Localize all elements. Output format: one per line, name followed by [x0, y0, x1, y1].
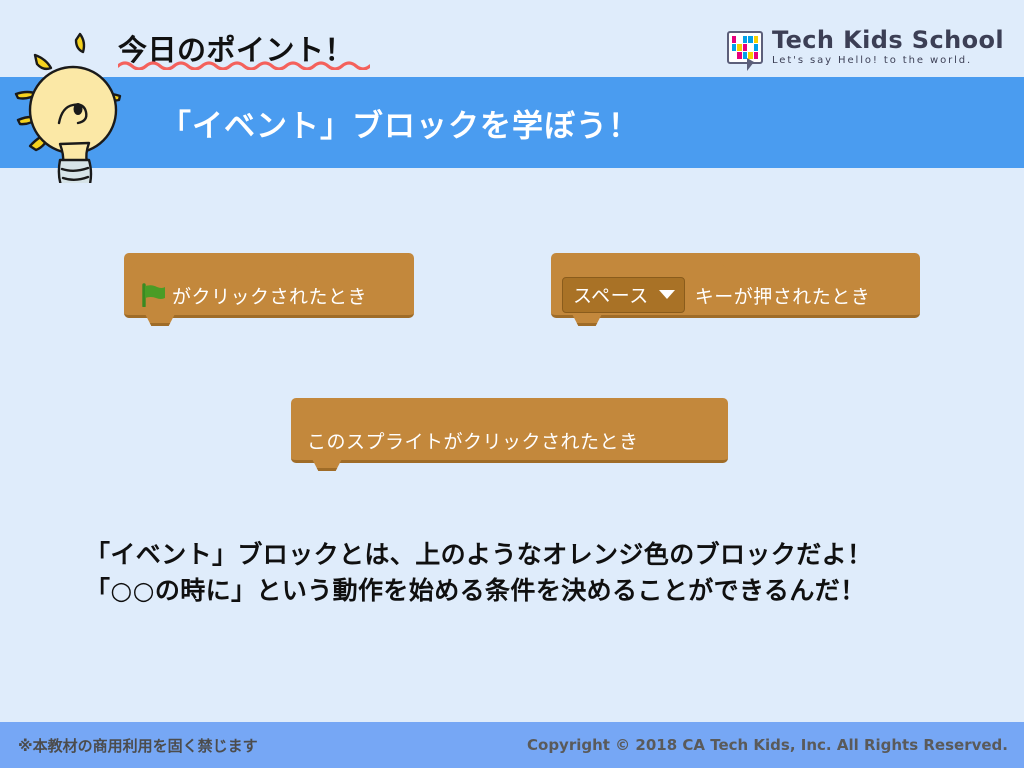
- explanation-text: 「イベント」ブロックとは、上のようなオレンジ色のブロックだよ！ 「○○の時に」と…: [85, 537, 872, 608]
- footer-copyright: Copyright © 2018 CA Tech Kids, Inc. All …: [527, 736, 1008, 754]
- logo-text-group: Tech Kids School Let's say Hello! to the…: [772, 28, 1004, 66]
- footer-notice: ※本教材の商用利用を固く禁じます: [18, 735, 258, 756]
- speech-bubble-tail-icon: [747, 58, 754, 71]
- block-bottom-notch: [142, 315, 178, 326]
- green-flag-icon: [140, 283, 166, 307]
- block-body: がクリックされたとき: [124, 275, 414, 318]
- block-bottom-notch: [569, 315, 605, 326]
- block-body: スペース キーが押されたとき: [551, 275, 920, 318]
- block-body: このスプライトがクリックされたとき: [291, 420, 728, 463]
- logo-tagline: Let's say Hello! to the world.: [772, 56, 1004, 66]
- explanation-line-2: 「○○の時に」という動作を始める条件を決めることができるんだ！: [85, 573, 872, 609]
- title-wavy-underline: [118, 60, 370, 70]
- scratch-block-when-key-pressed[interactable]: スペース キーが押されたとき: [551, 253, 920, 318]
- banner: 「イベント」ブロックを学ぼう！: [0, 77, 1024, 168]
- key-dropdown-value: スペース: [573, 281, 649, 308]
- block-label: このスプライトがクリックされたとき: [307, 427, 639, 454]
- block-hat-shape: [551, 253, 920, 275]
- slide-canvas: 今日のポイント！ Tech Kids School Let's say Hell…: [0, 0, 1024, 768]
- scratch-block-when-flag-clicked[interactable]: がクリックされたとき: [124, 253, 414, 318]
- brand-logo: Tech Kids School Let's say Hello! to the…: [727, 28, 1004, 66]
- scratch-block-when-sprite-clicked[interactable]: このスプライトがクリックされたとき: [291, 398, 728, 463]
- block-bottom-notch: [309, 460, 345, 471]
- key-dropdown[interactable]: スペース: [562, 277, 685, 313]
- footer: ※本教材の商用利用を固く禁じます Copyright © 2018 CA Tec…: [0, 722, 1024, 768]
- explanation-line-1: 「イベント」ブロックとは、上のようなオレンジ色のブロックだよ！: [85, 537, 872, 573]
- banner-title: 「イベント」ブロックを学ぼう！: [160, 100, 640, 145]
- block-hat-shape: [291, 398, 728, 420]
- logo-name: Tech Kids School: [772, 28, 1004, 52]
- logo-color-grid: [732, 36, 758, 59]
- chevron-down-icon: [659, 290, 675, 299]
- block-hat-shape: [124, 253, 414, 275]
- lightbulb-icon: [8, 28, 143, 183]
- block-label: がクリックされたとき: [172, 282, 367, 309]
- block-label: キーが押されたとき: [695, 282, 871, 309]
- speech-bubble-icon: [727, 31, 763, 64]
